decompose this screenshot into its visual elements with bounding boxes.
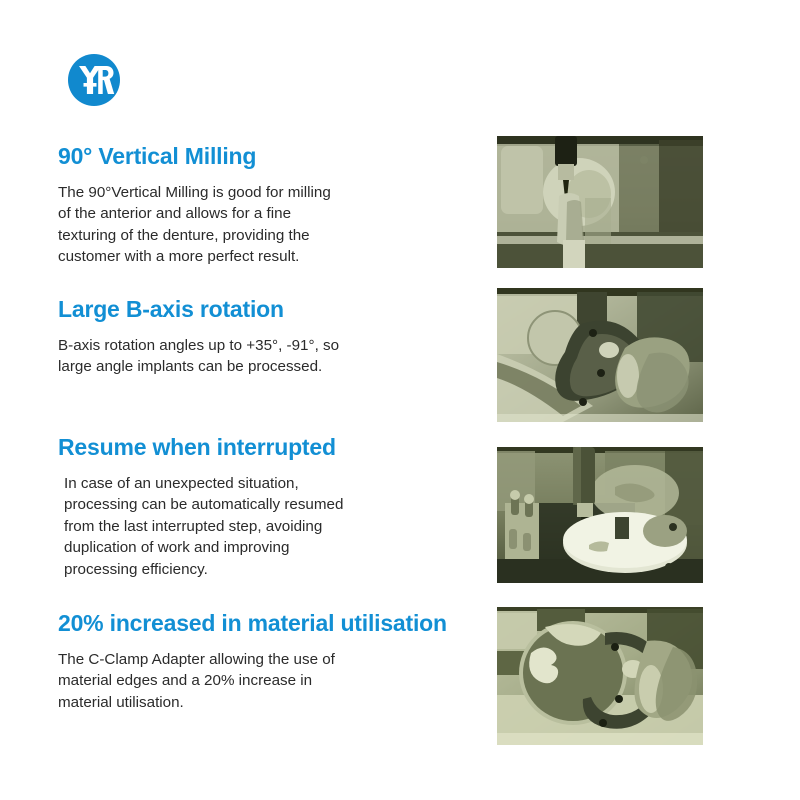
feature-title: 90° Vertical Milling <box>58 143 478 171</box>
feature-description: In case of an unexpected situation, proc… <box>58 473 478 581</box>
feature-text-column: Large B-axis rotation B-axis rotation an… <box>58 296 478 378</box>
feature-description: The C-Clamp Adapter allowing the use of … <box>58 649 478 714</box>
feature-title: Large B-axis rotation <box>58 296 478 324</box>
feature-title: 20% increased in material utilisation <box>58 610 478 638</box>
feature-text-column: 20% increased in material utilisation Th… <box>58 610 478 713</box>
resume-interrupted-photo <box>497 447 703 583</box>
brand-logo <box>66 52 122 108</box>
product-feature-page: 90° Vertical Milling The 90°Vertical Mil… <box>0 0 800 800</box>
c-clamp-adapter-photo <box>497 607 703 745</box>
feature-title: Resume when interrupted <box>58 434 478 462</box>
vertical-milling-photo <box>497 136 703 268</box>
feature-text-column: 90° Vertical Milling The 90°Vertical Mil… <box>58 143 478 268</box>
feature-text-column: Resume when interrupted In case of an un… <box>58 434 478 580</box>
feature-description: The 90°Vertical Milling is good for mill… <box>58 182 478 268</box>
feature-description: B-axis rotation angles up to +35°, -91°,… <box>58 335 478 378</box>
b-axis-rotation-photo <box>497 288 703 422</box>
